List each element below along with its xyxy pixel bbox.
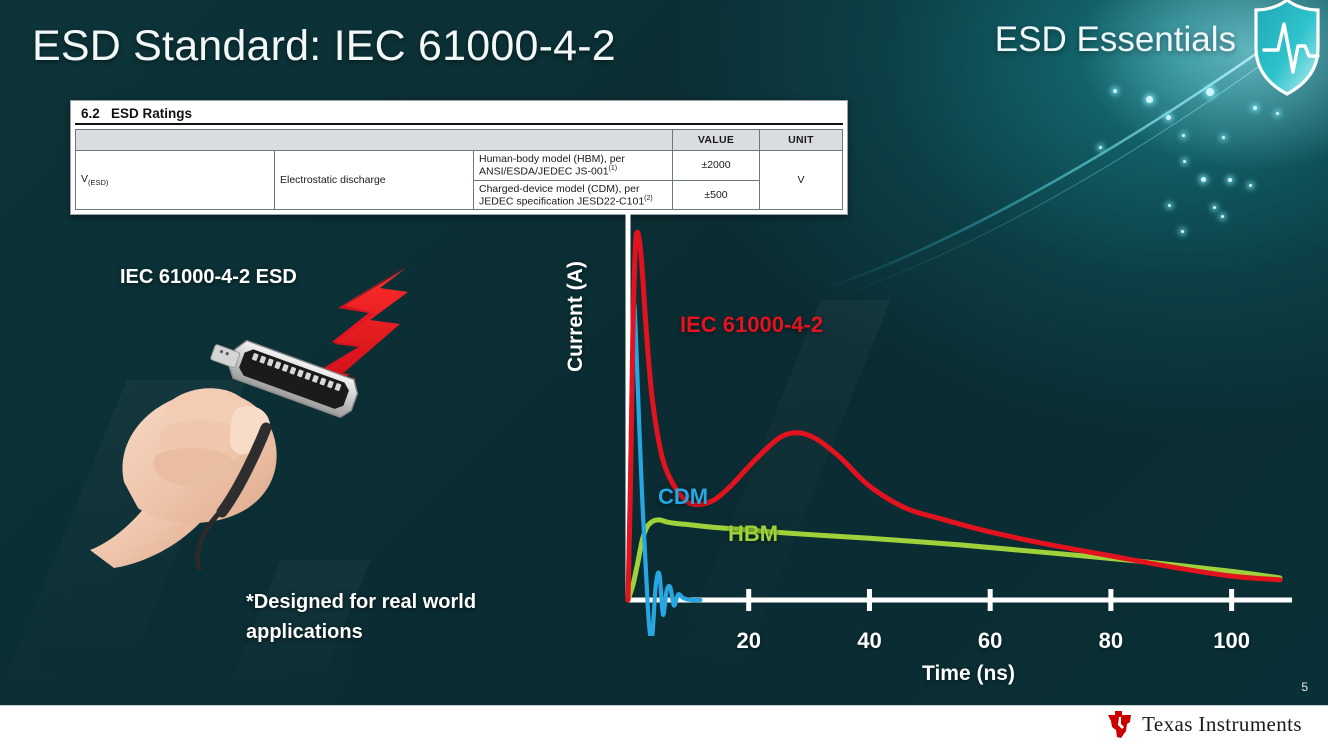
x-tick-label-60: 60 [978,628,1002,654]
table-cell-value: ±2000 [673,151,760,181]
sparkle-icon [1206,88,1214,96]
table-section-title: ESD Ratings [111,106,192,121]
chart-x-axis-label: Time (ns) [922,662,1015,686]
x-tick-label-20: 20 [736,628,760,654]
table-section-heading: 6.2ESD Ratings [75,103,843,125]
texas-state-icon [1106,710,1133,739]
description-text: Human-body model (HBM), per ANSI/ESDA/JE… [479,153,625,178]
table-section-number: 6.2 [81,106,111,121]
symbol-text: V [81,173,88,185]
chart-curves [628,232,1280,636]
table-cell-description: Human-body model (HBM), per ANSI/ESDA/JE… [474,151,673,181]
page-title: ESD Standard: IEC 61000-4-2 [32,22,616,71]
shield-pulse-icon [1248,0,1326,102]
illustration-note: *Designed for real world applications [246,588,546,647]
sparkle-icon [1253,106,1257,110]
slide-footer: Texas Instruments [0,705,1328,746]
series-label-iec: IEC 61000-4-2 [680,312,823,338]
sparkle-icon [1222,136,1225,139]
table-cell-parameter: Electrostatic discharge [275,151,474,210]
footnote-marker: (1) [609,165,618,172]
symbol-subscript: (ESD) [88,178,108,187]
series-label-hbm: HBM [728,521,778,547]
company-name: Texas Instruments [1142,712,1302,737]
sparkle-icon [1166,115,1171,120]
sparkle-icon [1183,160,1186,163]
sparkle-icon [1182,134,1185,137]
table-header-unit: UNIT [760,130,843,151]
sparkle-icon [1146,96,1153,103]
texas-instruments-logo: Texas Instruments [1106,710,1302,739]
sparkle-icon [1249,184,1252,187]
esd-illustration [88,250,428,570]
slide-root: ESD Standard: IEC 61000-4-2 ESD Essentia… [0,0,1328,746]
sparkle-icon [1099,146,1102,149]
chart-axes [628,214,1292,611]
brand-label: ESD Essentials [995,20,1236,60]
page-number: 5 [1301,680,1308,694]
sparkle-icon [1113,89,1117,93]
series-label-cdm: CDM [658,484,708,510]
table-header-value: VALUE [673,130,760,151]
note-line-1: *Designed for real world [246,591,476,613]
chart-y-axis-label: Current (A) [564,261,588,372]
table-header-row: VALUE UNIT [76,130,843,151]
sparkle-icon [1228,178,1232,182]
x-tick-label-100: 100 [1213,628,1250,654]
sparkle-icon [1276,112,1279,115]
table-row: V(ESD) Electrostatic discharge Human-bod… [76,151,843,181]
sparkle-icon [1201,177,1206,182]
table-cell-symbol: V(ESD) [76,151,275,210]
table-header-blank [76,130,673,151]
note-line-2: applications [246,621,363,643]
esd-waveform-chart: Current (A) Time (ns) 20406080100 IEC 61… [570,196,1310,696]
x-tick-label-80: 80 [1099,628,1123,654]
chart-plot-area [570,196,1310,636]
x-tick-label-40: 40 [857,628,881,654]
